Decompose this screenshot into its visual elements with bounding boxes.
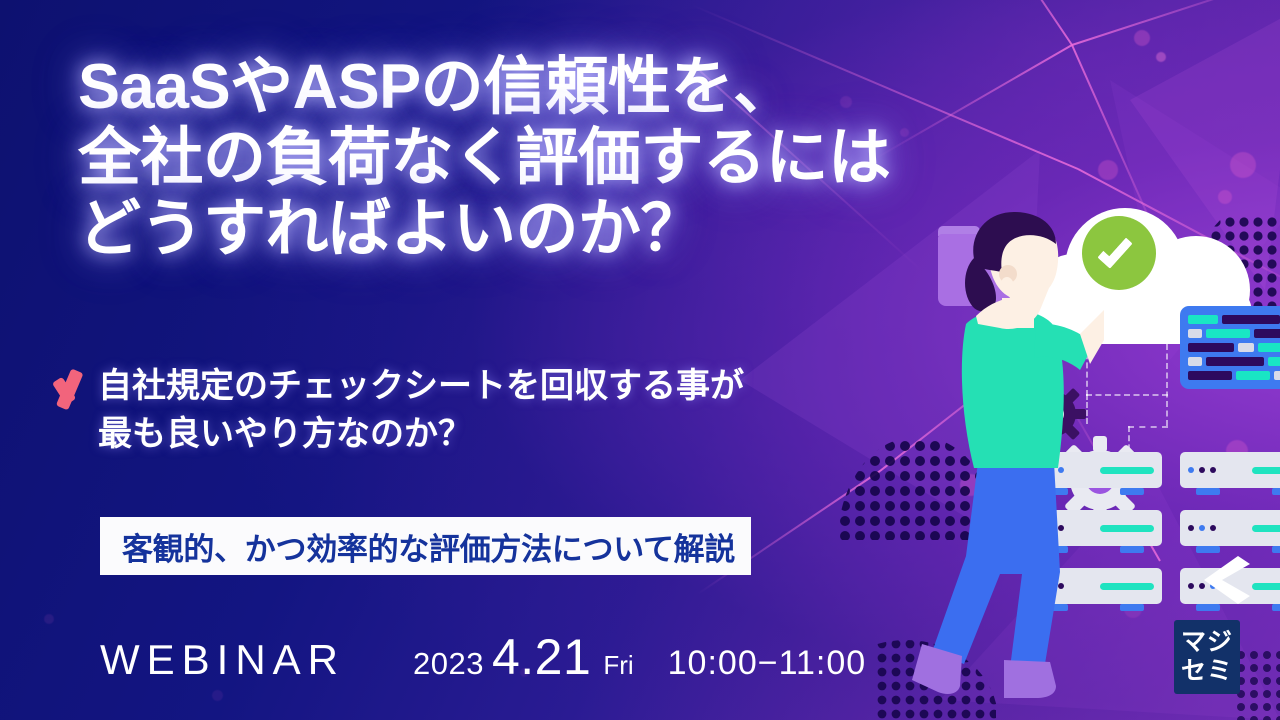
majisemi-logo: マジ セミ: [1174, 620, 1240, 694]
date-group: 2023 4.21 Fri 10:00−11:00: [413, 628, 866, 686]
title-line-1: SaaSやASPの信頼性を、: [78, 52, 1078, 123]
reaching-hand: [972, 266, 1052, 336]
subtitle: 自社規定のチェックシートを回収する事が 最も良いやり方なのか？: [98, 362, 998, 459]
event-day: 4.21: [492, 628, 591, 686]
subtitle-line-2: 最も良いやり方なのか？: [98, 410, 998, 458]
logo-line-2: セミ: [1181, 657, 1233, 686]
bokeh-dot: [1134, 30, 1150, 46]
webinar-label: WEBINAR: [100, 636, 345, 684]
logo-line-1: マジ: [1181, 628, 1233, 657]
bokeh-dot: [44, 614, 54, 624]
dashed-connector: [1166, 344, 1168, 426]
highlight-banner: 客観的、かつ効率的な評価方法について解説: [100, 517, 751, 575]
page-title: SaaSやASPの信頼性を、 全社の負荷なく評価するには どうすればよいのか？: [78, 52, 1078, 266]
event-year: 2023: [413, 646, 484, 682]
check-icon: [47, 372, 93, 414]
bokeh-dot: [212, 690, 223, 701]
footer-schedule: WEBINAR 2023 4.21 Fri 10:00−11:00: [100, 628, 866, 686]
title-line-2: 全社の負荷なく評価するには: [78, 123, 1078, 194]
angle-bracket-icon: [1198, 550, 1254, 610]
bokeh-dot: [1156, 52, 1166, 62]
event-time: 10:00−11:00: [668, 644, 867, 683]
subtitle-line-1: 自社規定のチェックシートを回収する事が: [98, 362, 998, 410]
webinar-banner: SaaSやASPの信頼性を、 全社の負荷なく評価するには どうすればよいのか？ …: [0, 0, 1280, 720]
code-panel-icon: [1180, 306, 1280, 389]
event-weekday: Fri: [603, 650, 633, 681]
highlight-text: 客観的、かつ効率的な評価方法について解説: [122, 524, 735, 569]
title-line-3: どうすればよいのか？: [78, 194, 1078, 265]
dashed-connector: [1128, 426, 1168, 428]
